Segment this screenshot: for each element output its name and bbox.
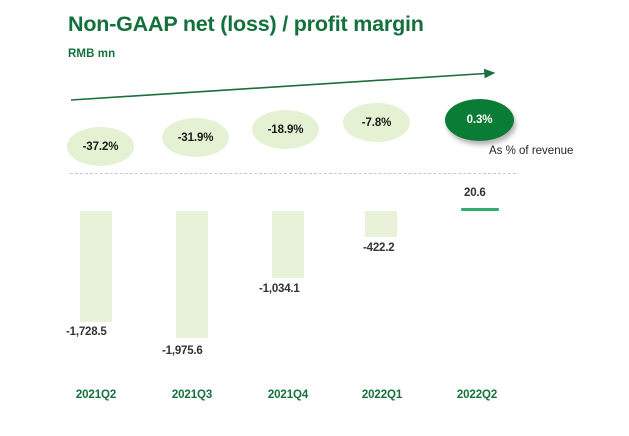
bar-2021Q2 bbox=[80, 211, 112, 322]
margin-bubble-label: -7.8% bbox=[362, 117, 392, 129]
x-axis-label-2022Q2: 2022Q2 bbox=[447, 389, 507, 401]
margin-bubble-label: 0.3% bbox=[467, 114, 493, 126]
margin-bubble-label: -37.2% bbox=[83, 141, 119, 153]
chart-title: Non-GAAP net (loss) / profit margin bbox=[68, 12, 424, 37]
chart-subtitle-units: RMB mn bbox=[68, 48, 115, 60]
x-axis-label-2021Q4: 2021Q4 bbox=[258, 389, 318, 401]
value-label-2021Q2: -1,728.5 bbox=[66, 326, 107, 338]
margin-bubble-2022Q2: 0.3% bbox=[445, 99, 514, 141]
value-label-2021Q3: -1,975.6 bbox=[162, 345, 203, 357]
value-label-2022Q1: -422.2 bbox=[363, 242, 394, 254]
x-axis-label-2021Q2: 2021Q2 bbox=[66, 389, 126, 401]
margin-bubble-2022Q1: -7.8% bbox=[343, 103, 410, 142]
value-label-2021Q4: -1,034.1 bbox=[259, 283, 300, 295]
chart-canvas: Non-GAAP net (loss) / profit margin RMB … bbox=[0, 0, 629, 436]
margin-bubble-label: -31.9% bbox=[178, 132, 214, 144]
margin-bubble-2021Q4: -18.9% bbox=[252, 110, 319, 149]
bar-2022Q2-positive-marker bbox=[461, 208, 499, 211]
zero-baseline bbox=[70, 173, 516, 174]
margin-bubble-2021Q2: -37.2% bbox=[67, 127, 134, 166]
x-axis-label-2021Q3: 2021Q3 bbox=[162, 389, 222, 401]
margin-bubble-2021Q3: -31.9% bbox=[162, 118, 229, 157]
legend-as-pct-of-revenue: As % of revenue bbox=[489, 145, 573, 157]
bar-2022Q1 bbox=[365, 211, 397, 237]
x-axis-label-2022Q1: 2022Q1 bbox=[352, 389, 412, 401]
value-label-2022Q2: 20.6 bbox=[464, 187, 486, 199]
bar-2021Q3 bbox=[176, 211, 208, 338]
margin-bubble-label: -18.9% bbox=[268, 124, 304, 136]
bar-2021Q4 bbox=[272, 211, 304, 278]
